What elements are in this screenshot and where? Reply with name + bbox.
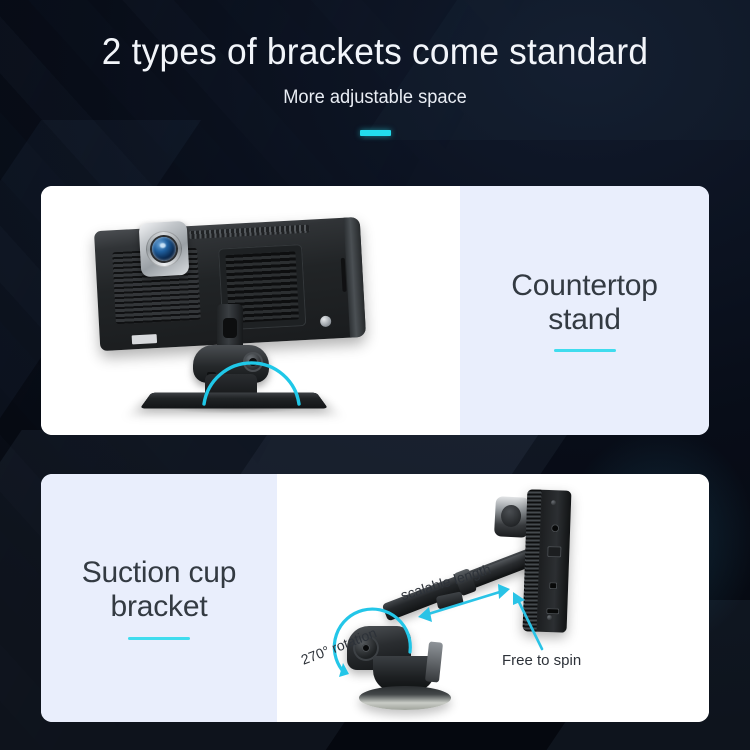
monitor-usb-port xyxy=(546,608,559,614)
header-accent-bar xyxy=(360,130,391,136)
stand-base-plate xyxy=(140,393,328,409)
monitor-sensor-dot xyxy=(320,316,332,328)
monitor-port xyxy=(551,524,559,532)
feature-card-countertop-stand: Reversible screen angle Countertop stand xyxy=(41,186,709,435)
monitor-label-sticker xyxy=(132,334,157,344)
monitor-port xyxy=(549,582,557,589)
monitor-side-port xyxy=(341,258,347,292)
product-feature-image: 2 types of brackets come standard More a… xyxy=(0,0,750,750)
feature-card-suction-cup-bracket: Suction cup bracket xyxy=(41,474,709,722)
feature-label-countertop-stand: Countertop stand xyxy=(460,186,709,435)
title-line-1: Suction cup xyxy=(82,556,237,589)
page-subtitle: More adjustable space xyxy=(15,87,735,109)
lens-glint xyxy=(159,243,165,248)
product-photo-suction-cup: 270° rotation scalable length Free to sp… xyxy=(277,474,709,722)
suction-cup-disc xyxy=(359,686,451,710)
title-line-1: Countertop xyxy=(511,269,657,302)
product-photo-countertop: Reversible screen angle xyxy=(41,186,460,435)
annotation-free-to-spin: Free to spin xyxy=(502,652,581,669)
title-line-2: stand xyxy=(548,303,620,336)
monitor-screw xyxy=(551,500,556,505)
magnetic-mount-puck xyxy=(494,496,530,538)
header: 2 types of brackets come standard More a… xyxy=(0,0,750,136)
monitor-card-slot xyxy=(547,546,561,557)
monitor-top-vent xyxy=(189,225,309,239)
suction-cup-bracket-title: Suction cup bracket xyxy=(82,556,237,623)
arm-lock-lever xyxy=(436,591,464,609)
monitor-side-profile xyxy=(523,489,572,632)
suction-lock-lever xyxy=(425,641,443,682)
label-accent-rule xyxy=(554,349,616,352)
annotation-graphics-layer xyxy=(277,474,709,722)
countertop-stand-title: Countertop stand xyxy=(511,269,657,336)
monitor-screw xyxy=(547,615,552,620)
tightening-knob xyxy=(243,352,263,372)
product-illustration-suction-bracket: 270° rotation scalable length Free to sp… xyxy=(277,474,709,722)
page-title: 2 types of brackets come standard xyxy=(17,31,733,73)
title-line-2: bracket xyxy=(111,590,208,623)
feature-label-suction-cup-bracket: Suction cup bracket xyxy=(41,474,277,722)
camera-module xyxy=(139,221,190,277)
monitor-screw xyxy=(350,228,355,233)
label-accent-rule xyxy=(128,637,190,640)
product-illustration-monitor-stand: Reversible screen angle xyxy=(41,186,460,435)
monitor-screw xyxy=(355,321,360,326)
